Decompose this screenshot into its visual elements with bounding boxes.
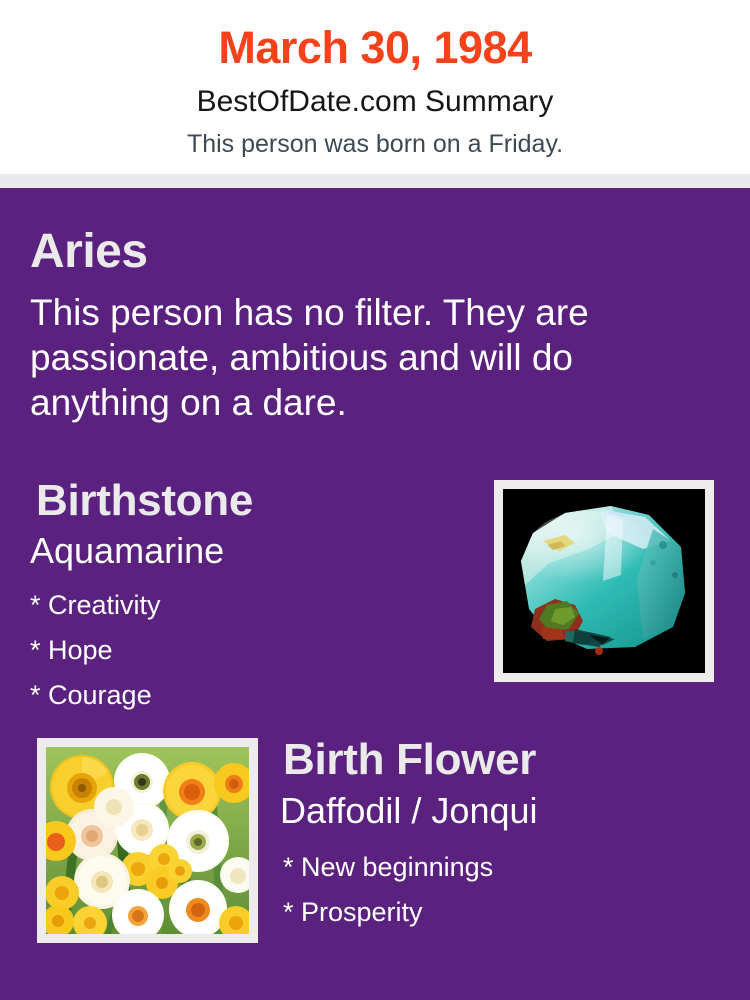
birth-day-note: This person was born on a Friday.: [0, 128, 750, 160]
birth-flower-title: Birth Flower: [283, 734, 536, 786]
birthstone-title: Birthstone: [36, 475, 253, 527]
birth-flower-trait: * New beginnings: [283, 845, 723, 890]
birth-flower-trait: * Prosperity: [283, 890, 723, 935]
birthstone-trait: * Courage: [30, 673, 460, 718]
daffodil-flowers-icon: [46, 747, 249, 934]
site-name: BestOfDate.com Summary: [0, 84, 750, 120]
aquamarine-crystal-icon: [503, 489, 705, 673]
birthstone-image-frame: [494, 480, 714, 682]
birthstone-name: Aquamarine: [30, 530, 224, 572]
header: March 30, 1984 BestOfDate.com Summary Th…: [0, 0, 750, 174]
zodiac-sign-title: Aries: [30, 224, 148, 280]
birth-flower-image-frame: [37, 738, 258, 943]
birthstone-trait-list: * Creativity * Hope * Courage: [30, 583, 460, 718]
header-divider: [0, 174, 750, 188]
birthstone-trait: * Creativity: [30, 583, 460, 628]
birthstone-trait: * Hope: [30, 628, 460, 673]
birthstone-image: [503, 489, 705, 673]
content-panel: Aries This person has no filter. They ar…: [0, 188, 750, 1000]
birth-flower-name: Daffodil / Jonqui: [280, 790, 538, 832]
birth-flower-trait-list: * New beginnings * Prosperity: [283, 845, 723, 935]
page-title-date: March 30, 1984: [0, 22, 750, 74]
zodiac-description: This person has no filter. They are pass…: [30, 290, 662, 425]
summary-card: March 30, 1984 BestOfDate.com Summary Th…: [0, 0, 750, 1000]
birth-flower-image: [46, 747, 249, 934]
